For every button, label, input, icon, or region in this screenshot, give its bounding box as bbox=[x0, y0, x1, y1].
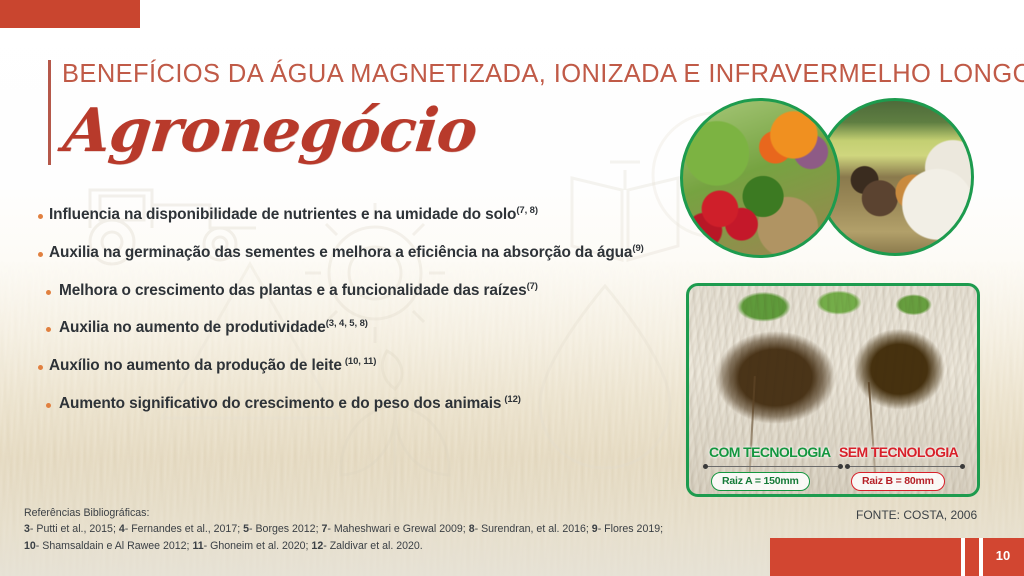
top-left-red-tab bbox=[0, 0, 140, 28]
list-item-text: Auxilia na germinação das sementes e mel… bbox=[49, 244, 644, 262]
measure-line-right bbox=[847, 466, 963, 467]
list-item-text: Influencia na disponibilidade de nutrien… bbox=[49, 206, 538, 224]
bullet-dot-icon bbox=[46, 290, 51, 295]
citation-superscript: (7) bbox=[527, 281, 538, 292]
source-credit: FONTE: COSTA, 2006 bbox=[856, 508, 977, 522]
label-com-tecnologia: COM TECNOLOGIA bbox=[709, 444, 830, 460]
footer-separator-2 bbox=[979, 538, 983, 576]
measure-badge-left: Raiz A = 150mm bbox=[711, 472, 810, 491]
citation-superscript: (3, 4, 5, 8) bbox=[326, 318, 368, 329]
list-item-text: Aumento significativo do crescimento e d… bbox=[59, 395, 521, 413]
citation-superscript: (12) bbox=[504, 394, 521, 405]
list-item: Auxilia na germinação das sementes e mel… bbox=[38, 244, 718, 262]
references-line-2: 10- Shamsaldain e Al Rawee 2012; 11- Gho… bbox=[24, 538, 744, 554]
measure-badge-right: Raiz B = 80mm bbox=[851, 472, 945, 491]
root-comparison-photo: COM TECNOLOGIA SEM TECNOLOGIA Raiz A = 1… bbox=[686, 283, 980, 497]
list-item: Auxílio no aumento da produção de leite(… bbox=[38, 357, 718, 375]
citation-superscript: (10, 11) bbox=[345, 356, 376, 367]
list-item: Influencia na disponibilidade de nutrien… bbox=[38, 206, 718, 224]
footer-separator-1 bbox=[961, 538, 965, 576]
title-accent-rule bbox=[48, 60, 51, 165]
bullet-dot-icon bbox=[46, 327, 51, 332]
measure-line-left bbox=[705, 466, 841, 467]
list-item: Auxilia no aumento de produtividade(3, 4… bbox=[38, 319, 718, 337]
label-sem-tecnologia: SEM TECNOLOGIA bbox=[839, 444, 958, 460]
bullet-dot-icon bbox=[46, 403, 51, 408]
vegetables-photo-circle bbox=[680, 98, 840, 258]
footer-bar bbox=[770, 538, 1024, 576]
list-item: Aumento significativo do crescimento e d… bbox=[38, 395, 718, 413]
bullet-dot-icon bbox=[38, 252, 43, 257]
references-block: Referências Bibliográficas: 3- Putti et … bbox=[24, 505, 744, 554]
page-title: Agronegócio bbox=[60, 96, 480, 166]
benefits-list: Influencia na disponibilidade de nutrien… bbox=[38, 206, 718, 433]
list-item-text: Melhora o crescimento das plantas e a fu… bbox=[59, 282, 538, 300]
root-texture-overlay bbox=[689, 286, 977, 494]
page-subtitle: BENEFÍCIOS DA ÁGUA MAGNETIZADA, IONIZADA… bbox=[62, 60, 1002, 89]
references-heading: Referências Bibliográficas: bbox=[24, 505, 744, 521]
slide-canvas: BENEFÍCIOS DA ÁGUA MAGNETIZADA, IONIZADA… bbox=[0, 0, 1024, 576]
page-number: 10 bbox=[988, 548, 1018, 563]
references-line-1: 3- Putti et al., 2015; 4- Fernandes et a… bbox=[24, 521, 744, 537]
list-item: Melhora o crescimento das plantas e a fu… bbox=[38, 282, 718, 300]
bullet-dot-icon bbox=[38, 214, 43, 219]
list-item-text: Auxílio no aumento da produção de leite(… bbox=[49, 357, 376, 375]
citation-superscript: (7, 8) bbox=[516, 205, 538, 216]
bullet-dot-icon bbox=[38, 365, 43, 370]
list-item-text: Auxilia no aumento de produtividade(3, 4… bbox=[59, 319, 368, 337]
citation-superscript: (9) bbox=[632, 243, 643, 254]
